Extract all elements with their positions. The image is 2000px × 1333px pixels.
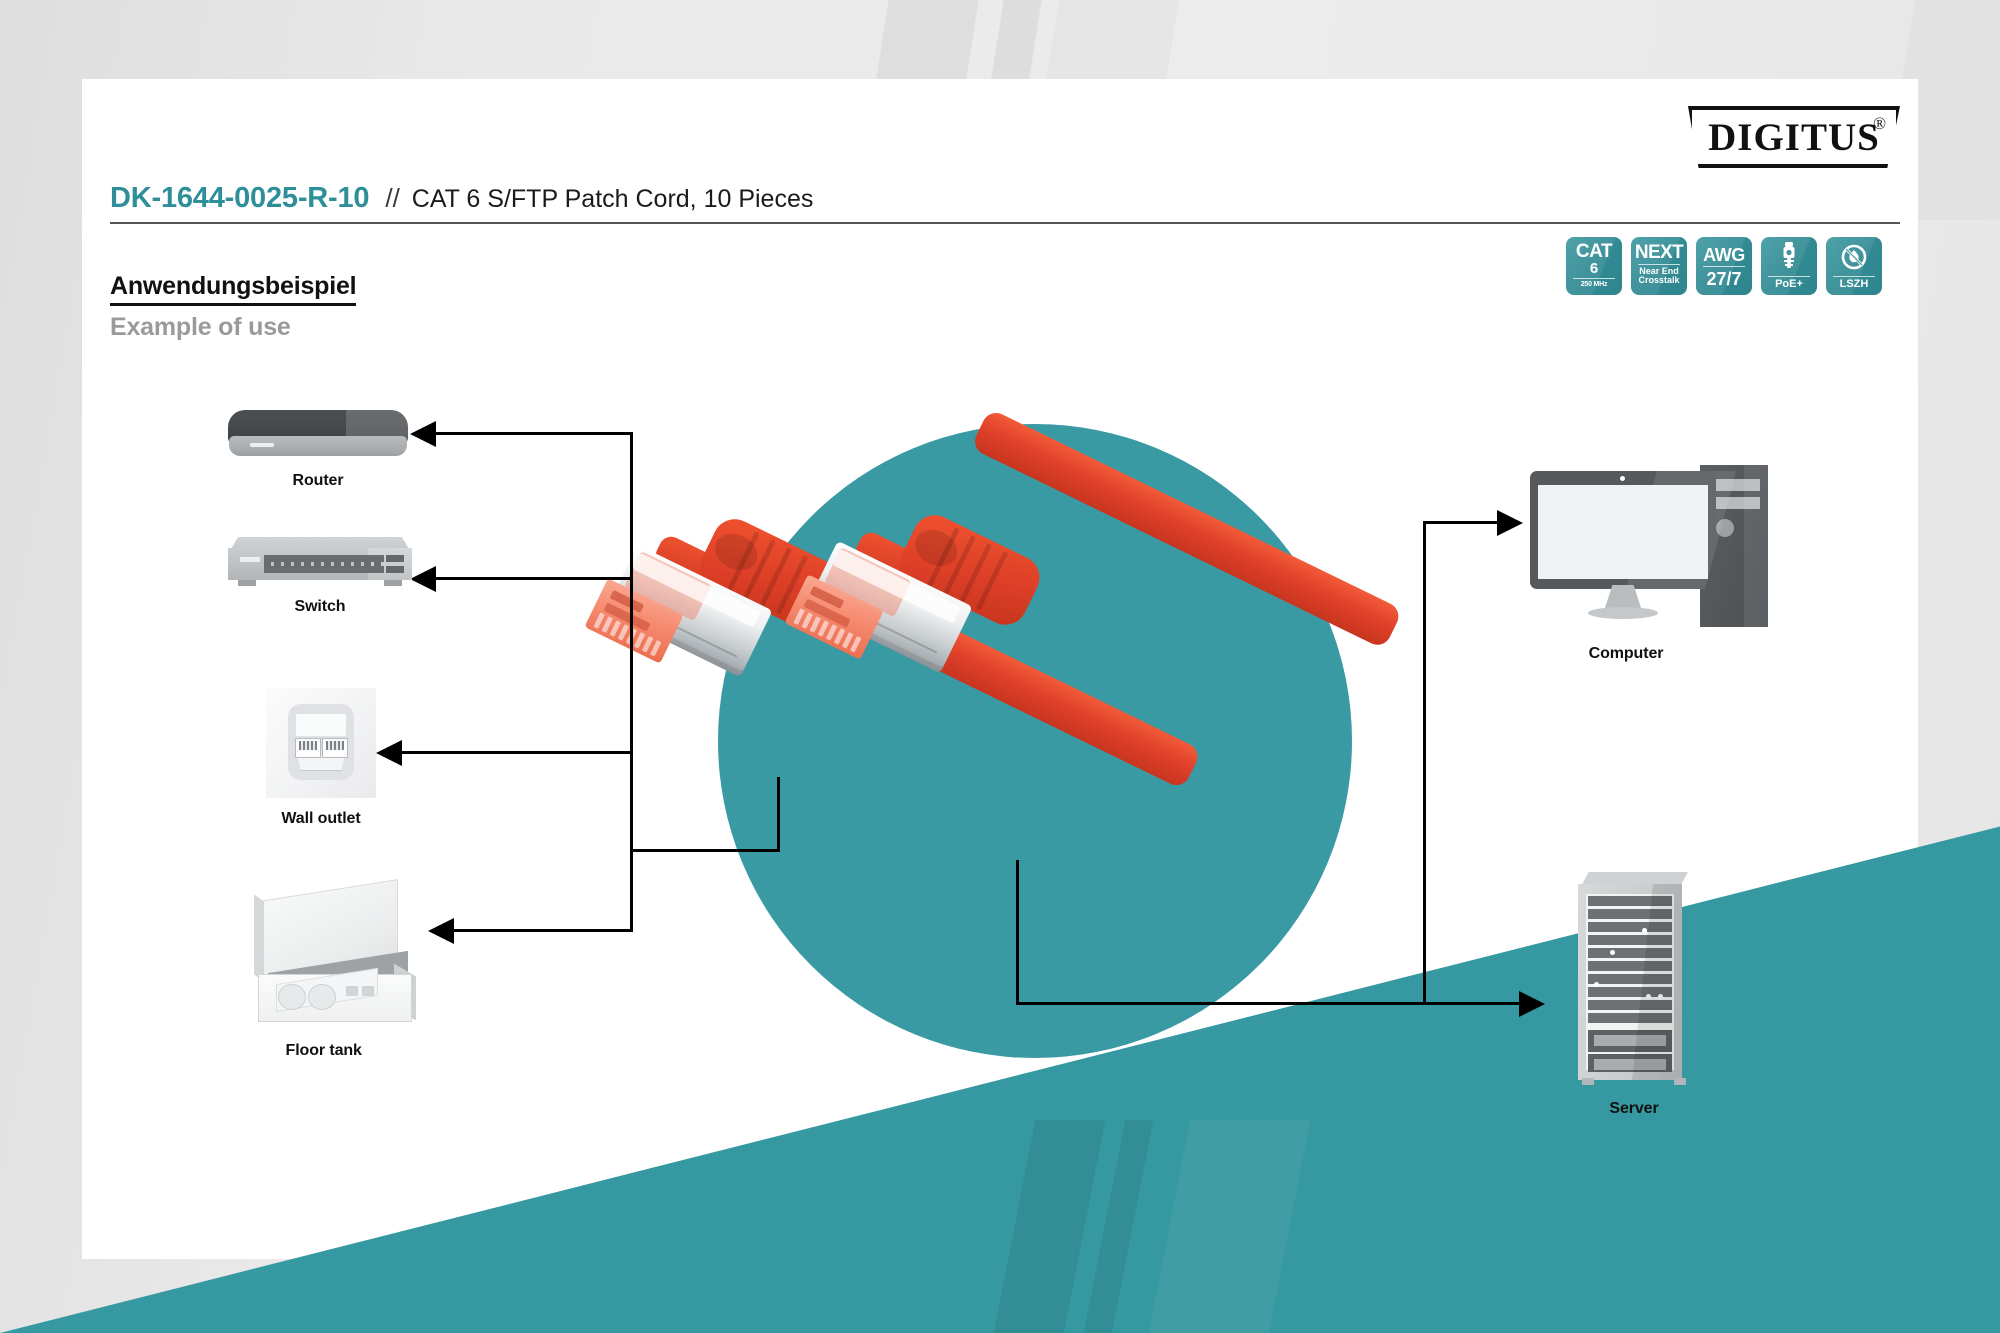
next-badge-line3: Crosstalk — [1631, 276, 1687, 285]
arrow-to-router — [410, 421, 436, 447]
poe-badge: PoE+ — [1761, 237, 1817, 295]
connector-line-server — [1423, 1002, 1523, 1005]
certification-badges: CAT 6 250 MHz NEXT Near End Crosstalk AW… — [1566, 237, 1882, 295]
server-label: Server — [1609, 1100, 1658, 1118]
floor-tank-label: Floor tank — [286, 1042, 362, 1060]
next-badge-line1: NEXT — [1631, 237, 1687, 262]
connector-line-left-trunk — [630, 432, 633, 932]
badge-divider — [1573, 278, 1615, 279]
connector-line-router — [434, 432, 632, 435]
lszh-badge-label: LSZH — [1826, 279, 1882, 291]
header-divider — [110, 222, 1900, 224]
heading-english: Example of use — [110, 313, 356, 342]
arrow-to-computer — [1497, 510, 1523, 536]
poe-badge-label: PoE+ — [1761, 279, 1817, 291]
badge-divider — [1833, 276, 1875, 277]
rj45-plug-icon — [1761, 237, 1817, 274]
cat6-badge-line2: 6 — [1566, 261, 1622, 276]
product-sku: DK-1644-0025-R-10 — [110, 182, 369, 215]
awg-badge-line1: AWG — [1696, 237, 1752, 264]
awg-badge-line2: 27/7 — [1696, 269, 1752, 290]
node-computer: Computer — [1530, 465, 1770, 635]
node-server: Server — [1574, 872, 1694, 1092]
product-photo-circle — [718, 424, 1352, 1058]
node-router: Router — [228, 410, 408, 460]
badge-divider — [1768, 276, 1810, 277]
computer-label: Computer — [1589, 645, 1664, 663]
connector-line-left-stub-h — [630, 849, 780, 852]
lszh-badge: LSZH — [1826, 237, 1882, 295]
connector-line-left-stub-v — [777, 777, 780, 852]
connector-line-right-trunk — [1423, 521, 1426, 1005]
rj45-connector-right — [790, 528, 1060, 678]
cat6-badge-line1: CAT — [1566, 237, 1622, 261]
connector-line-right-stub-v — [1016, 860, 1019, 1005]
title-separator: // — [385, 183, 399, 214]
connector-line-computer — [1423, 521, 1501, 524]
rj45-jack-icon — [295, 738, 321, 758]
arrow-to-floor-tank — [428, 918, 454, 944]
connector-line-floor-tank — [452, 929, 632, 932]
digitus-logo: DIGITUS ® — [1688, 106, 1900, 168]
arrow-to-switch — [410, 566, 436, 592]
cat6-badge: CAT 6 250 MHz — [1566, 237, 1622, 295]
heading-german: Anwendungsbeispiel — [110, 272, 356, 306]
badge-divider — [1638, 264, 1680, 265]
connector-line-switch — [434, 577, 632, 580]
connector-line-right-stub-h — [1016, 1002, 1426, 1005]
product-title-row: DK-1644-0025-R-10 // CAT 6 S/FTP Patch C… — [110, 182, 813, 215]
logo-wordmark: DIGITUS — [1688, 115, 1900, 160]
product-name: CAT 6 S/FTP Patch Cord, 10 Pieces — [412, 185, 814, 214]
no-flame-icon — [1826, 237, 1882, 274]
rj45-jack-icon — [322, 738, 348, 758]
badge-divider — [1703, 266, 1745, 267]
datasheet-page: DIGITUS ® DK-1644-0025-R-10 // CAT 6 S/F… — [0, 0, 2000, 1333]
next-badge: NEXT Near End Crosstalk — [1631, 237, 1687, 295]
section-heading: Anwendungsbeispiel Example of use — [110, 272, 356, 342]
switch-label: Switch — [295, 598, 346, 616]
arrow-to-server — [1519, 991, 1545, 1017]
connector-line-wall-outlet — [400, 751, 632, 754]
registered-trademark-icon: ® — [1873, 114, 1886, 134]
node-switch: Switch — [228, 536, 412, 588]
router-label: Router — [293, 472, 344, 490]
arrow-to-wall-outlet — [376, 740, 402, 766]
awg-badge: AWG 27/7 — [1696, 237, 1752, 295]
wall-outlet-label: Wall outlet — [281, 810, 360, 828]
cat6-badge-line3: 250 MHz — [1566, 281, 1622, 288]
node-floor-tank: Floor tank — [246, 890, 431, 1030]
node-wall-outlet: Wall outlet — [266, 688, 376, 798]
